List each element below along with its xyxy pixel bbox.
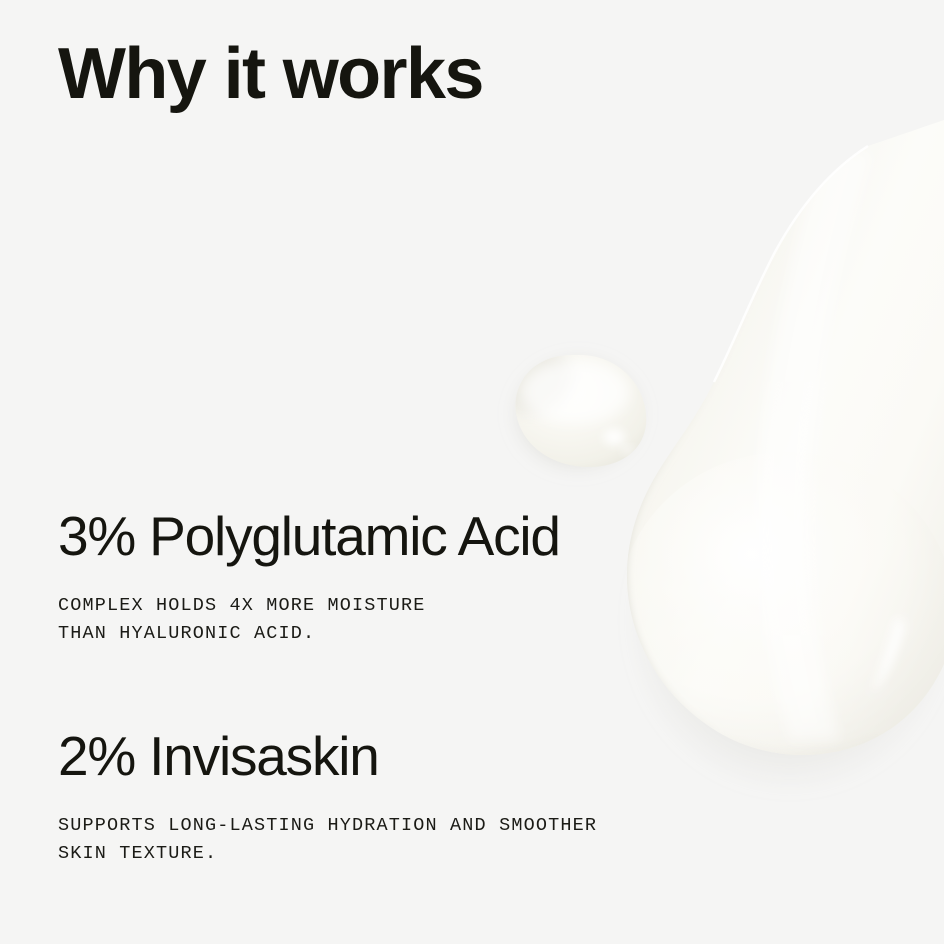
ingredient-block: 2% Invisaskin SUPPORTS LONG-LASTING HYDR… xyxy=(58,725,888,868)
ingredient-block: 3% Polyglutamic Acid COMPLEX HOLDS 4X MO… xyxy=(58,505,888,648)
why-it-works-card: Why it works 3% Polyglutamic Acid COMPLE… xyxy=(0,0,944,944)
content-layer: Why it works 3% Polyglutamic Acid COMPLE… xyxy=(0,0,944,944)
ingredient-name: 3% Polyglutamic Acid xyxy=(58,505,888,569)
ingredient-description: COMPLEX HOLDS 4X MORE MOISTURE THAN HYAL… xyxy=(58,569,888,648)
ingredient-name: 2% Invisaskin xyxy=(58,725,888,789)
ingredient-description: SUPPORTS LONG-LASTING HYDRATION AND SMOO… xyxy=(58,789,888,868)
page-title: Why it works xyxy=(58,38,483,110)
